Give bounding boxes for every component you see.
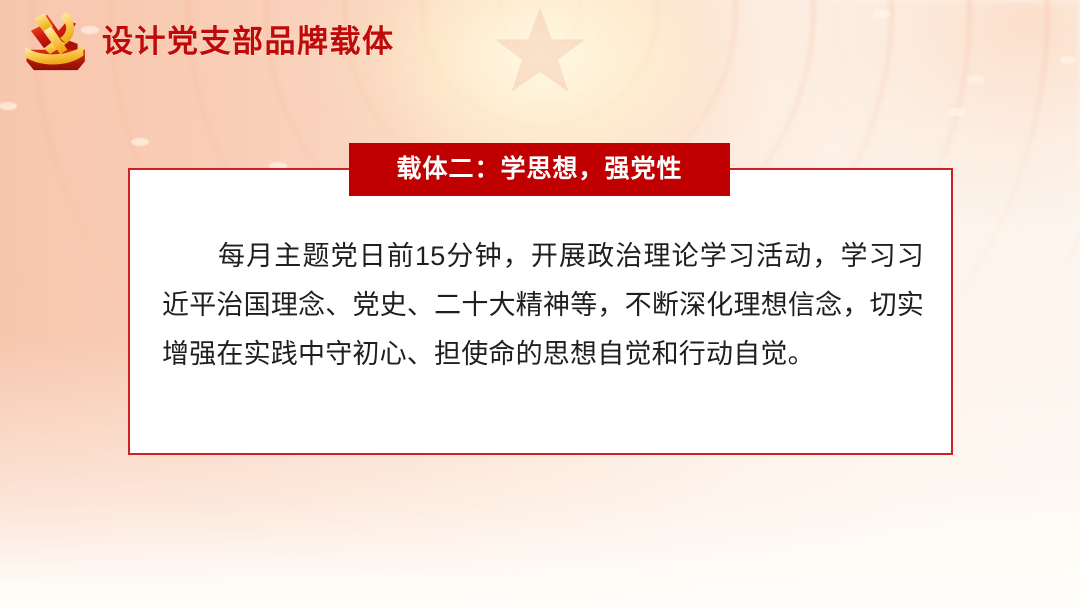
party-emblem-icon xyxy=(14,6,96,76)
section-banner: 载体二：学思想，强党性 xyxy=(349,143,730,196)
slide-canvas: 设计党支部品牌载体 载体二：学思想，强党性 每月主题党日前15分钟，开展政治理论… xyxy=(0,0,1080,608)
body-paragraph: 每月主题党日前15分钟，开展政治理论学习活动，学习习近平治国理念、党史、二十大精… xyxy=(162,232,924,379)
section-banner-label: 载体二：学思想，强党性 xyxy=(396,157,682,182)
page-title: 设计党支部品牌载体 xyxy=(102,26,395,57)
slide-header: 设计党支部品牌载体 xyxy=(0,0,1080,82)
